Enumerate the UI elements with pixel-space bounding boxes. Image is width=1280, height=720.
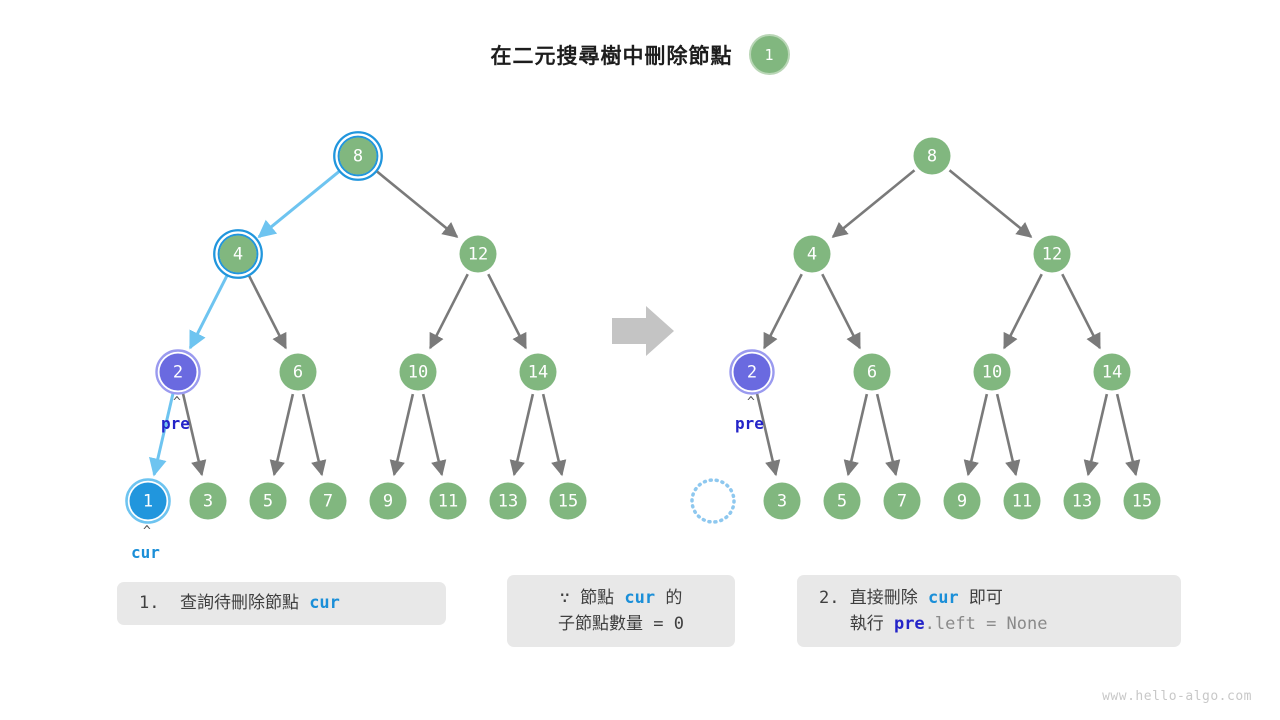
tree-edge (822, 273, 860, 348)
caption-step-2-segment: pre (894, 614, 925, 634)
caption-step-1-segment: cur (309, 593, 340, 613)
tree-node: 6 (277, 351, 320, 394)
node-value: 10 (408, 363, 428, 383)
extras-layer (612, 306, 674, 356)
tree-edge (997, 392, 1016, 474)
caption-reason-segment: 的 (655, 588, 682, 608)
caption-reason: ∵ 節點 cur 的子節點數量 = 0 (507, 575, 735, 647)
node-value: 15 (558, 492, 578, 512)
node-value: 12 (1042, 245, 1062, 265)
tree-edge (1117, 392, 1136, 474)
caption-reason-segment: ∵ 節點 (560, 588, 625, 608)
tree-edge (848, 392, 867, 474)
tree-node: 5 (821, 480, 864, 523)
tree-edge (430, 273, 468, 348)
node-value: 6 (293, 363, 303, 383)
caption-step-2-segment: 2. 直接刪除 (819, 588, 928, 608)
tree-node (692, 480, 734, 522)
pointer-label-pre: pre (735, 414, 764, 433)
node-value: 12 (468, 245, 488, 265)
tree-node: 14 (1091, 351, 1134, 394)
tree-edge (1062, 273, 1100, 348)
node-value: 7 (897, 492, 907, 512)
caption-step-1-segment: 1. 查詢待刪除節點 (139, 593, 309, 613)
tree-edge (259, 169, 342, 237)
caption-step-1-line-1: 1. 查詢待刪除節點 cur (139, 590, 446, 616)
node-value: 8 (353, 147, 363, 167)
tree-edge (394, 392, 413, 474)
tree-node: 15 (1121, 480, 1164, 523)
node-value: 11 (438, 492, 458, 512)
tree-edge (968, 392, 987, 474)
tree-node: 4 (215, 231, 262, 278)
tree-node: 7 (881, 480, 924, 523)
node-value: 7 (323, 492, 333, 512)
tree-node: 2 (731, 351, 774, 394)
tree-node: 11 (1001, 480, 1044, 523)
empty-node-placeholder (692, 480, 734, 522)
node-value: 14 (1102, 363, 1122, 383)
watermark: www.hello-algo.com (1102, 689, 1252, 704)
tree-node: 13 (1061, 480, 1104, 523)
caption-step-2-segment: 執行 (819, 614, 894, 634)
node-value: 4 (233, 245, 243, 265)
tree-edge (374, 169, 457, 237)
tree-edge (833, 169, 916, 237)
tree-edge (757, 392, 776, 474)
node-value: 6 (867, 363, 877, 383)
node-value: 11 (1012, 492, 1032, 512)
tree-node: 12 (457, 233, 500, 276)
tree-node: 3 (761, 480, 804, 523)
tree-node: 9 (367, 480, 410, 523)
tree-edge (948, 169, 1031, 237)
tree-edge (183, 392, 202, 474)
caption-reason-segment: 子節點數量 = 0 (558, 614, 684, 634)
tree-edge (543, 392, 562, 474)
tree-edge (423, 392, 442, 474)
transition-arrow-icon (612, 306, 674, 356)
tree-node: 3 (187, 480, 230, 523)
node-value: 15 (1132, 492, 1152, 512)
tree-node: 10 (397, 351, 440, 394)
pointer-caret-pre: ^ (747, 395, 755, 410)
node-value: 13 (1072, 492, 1092, 512)
tree-node: 6 (851, 351, 894, 394)
node-value: 10 (982, 363, 1002, 383)
caption-step-2-segment: cur (928, 588, 959, 608)
node-value: 3 (203, 492, 213, 512)
tree-edge (877, 392, 896, 474)
caption-step-2-segment: .left = None (925, 614, 1048, 634)
caption-reason-segment: cur (624, 588, 655, 608)
caption-reason-line-2: 子節點數量 = 0 (558, 611, 684, 637)
tree-node: 12 (1031, 233, 1074, 276)
caption-reason-line-1: ∵ 節點 cur 的 (560, 585, 683, 611)
node-value: 3 (777, 492, 787, 512)
tree-node: 7 (307, 480, 350, 523)
node-value: 2 (173, 363, 183, 383)
caption-step-2: 2. 直接刪除 cur 即可 執行 pre.left = None (797, 575, 1181, 647)
node-value: 5 (837, 492, 847, 512)
tree-edge (190, 273, 228, 348)
tree-edge (514, 392, 533, 474)
node-value: 13 (498, 492, 518, 512)
tree-node: 5 (247, 480, 290, 523)
tree-edge (274, 392, 293, 474)
pointer-caret-cur: ^ (143, 524, 151, 539)
node-value: 9 (957, 492, 967, 512)
tree-edge (488, 273, 526, 348)
pointer-caret-pre: ^ (173, 395, 181, 410)
caption-step-2-line-1: 2. 直接刪除 cur 即可 (819, 585, 1181, 611)
tree-node: 8 (335, 133, 382, 180)
diagram-canvas: 8412261014135791113158412261014357911131… (0, 0, 1280, 720)
node-value: 9 (383, 492, 393, 512)
node-value: 8 (927, 147, 937, 167)
tree-edge (303, 392, 322, 474)
node-value: 2 (747, 363, 757, 383)
node-value: 1 (143, 492, 153, 512)
tree-edge (154, 392, 173, 474)
tree-edge (764, 273, 802, 348)
pointer-label-pre: pre (161, 414, 190, 433)
tree-node: 1 (127, 480, 170, 523)
tree-node: 13 (487, 480, 530, 523)
caption-step-1: 1. 查詢待刪除節點 cur (117, 582, 446, 625)
tree-edge (248, 273, 286, 348)
caption-step-2-segment: 即可 (959, 588, 1003, 608)
tree-node: 9 (941, 480, 984, 523)
tree-node: 2 (157, 351, 200, 394)
tree-node: 4 (791, 233, 834, 276)
tree-edge (1004, 273, 1042, 348)
tree-node: 11 (427, 480, 470, 523)
tree-node: 15 (547, 480, 590, 523)
tree-node: 10 (971, 351, 1014, 394)
caption-step-2-line-2: 執行 pre.left = None (819, 611, 1181, 637)
node-value: 5 (263, 492, 273, 512)
tree-node: 14 (517, 351, 560, 394)
tree-edge (1088, 392, 1107, 474)
tree-node: 8 (911, 135, 954, 178)
pointer-label-cur: cur (131, 543, 160, 562)
node-value: 4 (807, 245, 817, 265)
node-value: 14 (528, 363, 548, 383)
